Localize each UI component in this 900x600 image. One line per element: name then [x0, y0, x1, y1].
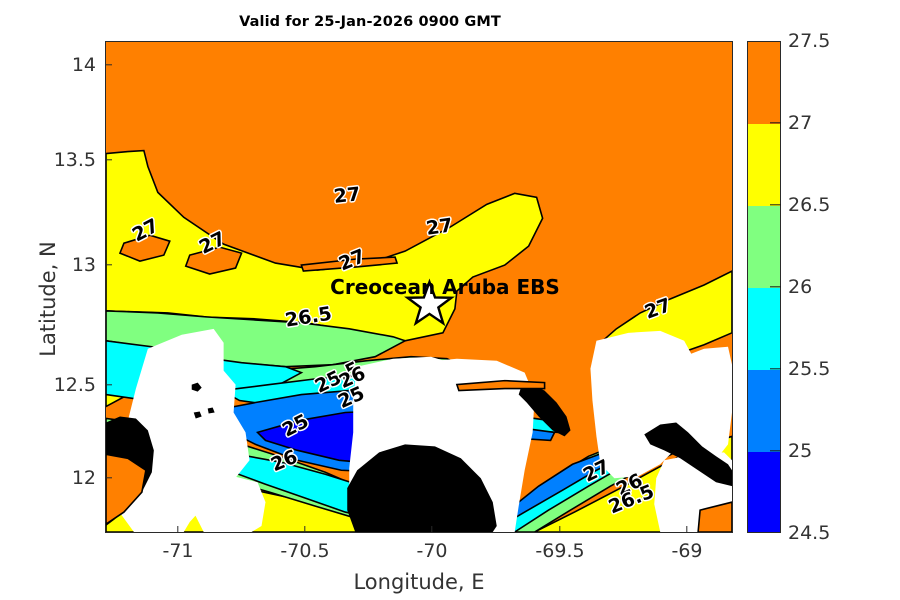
colorbar-tick-mark-5 — [770, 450, 781, 451]
x-axis-title: Longitude, E — [105, 570, 733, 594]
colorbar-tick-mark-3 — [770, 286, 781, 287]
x-tick-label-1: -70.5 — [280, 540, 329, 562]
x-tick-mark-1 — [304, 526, 305, 533]
colorbar-tick-label-0: 27.5 — [788, 30, 830, 52]
colorbar-band-3 — [748, 288, 780, 370]
station-name-label: Creocean Aruba EBS — [330, 275, 560, 299]
x-tick-mark-3 — [559, 526, 560, 533]
colorbar-tick-mark-1 — [770, 122, 781, 123]
figure-title: Valid for 25-Jan-2026 0900 GMT — [0, 14, 740, 30]
y-tick-mark-4 — [105, 477, 112, 478]
x-tick-mark-0 — [177, 526, 178, 533]
colorbar-band-2 — [748, 206, 780, 288]
y-tick-mark-3 — [105, 384, 112, 385]
x-tick-label-4: -69 — [671, 540, 702, 562]
colorbar-band-5 — [748, 452, 780, 533]
y-tick-mark-0 — [105, 64, 112, 65]
y-tick-mark-2 — [105, 264, 112, 265]
contour-label-27-0: 27 — [333, 183, 362, 208]
colorbar-tick-label-1: 27 — [788, 112, 812, 134]
colorbar-band-1 — [748, 124, 780, 206]
contour-label-27-4: 27 — [425, 214, 454, 239]
y-axis-title: Latitude, N — [36, 149, 60, 449]
colorbar-tick-mark-2 — [770, 204, 781, 205]
y-tick-label-0: 14 — [0, 54, 105, 76]
colorbar-tick-mark-4 — [770, 368, 781, 369]
map-plot-area[interactable]: 27272727272726.525.526252526272626.5 Cre… — [105, 41, 733, 533]
x-tick-label-2: -70 — [416, 540, 447, 562]
masked-region-small-sw — [194, 476, 266, 532]
colorbar-tick-label-5: 25 — [788, 440, 812, 462]
colorbar-band-4 — [748, 370, 780, 452]
x-tick-label-3: -69.5 — [535, 540, 584, 562]
y-tick-mark-1 — [105, 159, 112, 160]
sst-contour-figure: Valid for 25-Jan-2026 0900 GMT — [0, 0, 900, 600]
x-tick-mark-4 — [686, 526, 687, 533]
colorbar-tick-label-2: 26.5 — [788, 194, 830, 216]
colorbar-tick-label-4: 25.5 — [788, 358, 830, 380]
colorbar-band-0 — [748, 42, 780, 124]
colorbar-tick-label-3: 26 — [788, 276, 812, 298]
colorbar-tick-label-6: 24.5 — [788, 522, 830, 544]
x-tick-label-0: -71 — [162, 540, 193, 562]
y-tick-label-4: 12 — [0, 467, 105, 489]
x-tick-mark-2 — [431, 526, 432, 533]
